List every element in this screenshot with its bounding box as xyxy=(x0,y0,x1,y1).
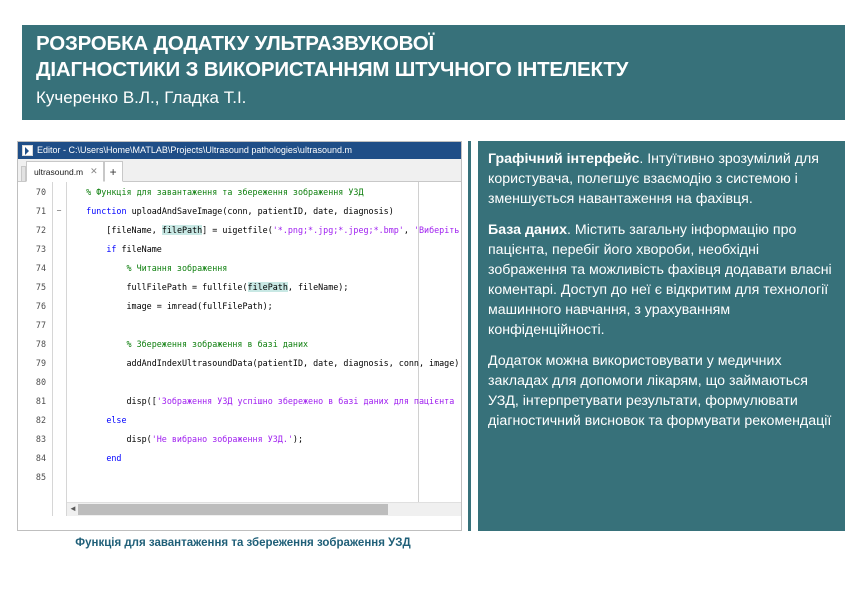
code-line-text: image = imread(fullFilePath); xyxy=(66,301,461,311)
line-number: 85 xyxy=(18,472,52,482)
code-line-text: fullFilePath = fullfile(filePath, fileNa… xyxy=(66,282,461,292)
code-line[interactable]: 79 addAndIndexUltrasoundData(patientID, … xyxy=(18,353,461,372)
line-number: 76 xyxy=(18,301,52,311)
matlab-editor-window: Editor - C:\Users\Home\MATLAB\Projects\U… xyxy=(17,141,462,531)
code-lines-container: 70 % Функція для завантаження та збереже… xyxy=(18,182,461,486)
code-line-text: [fileName, filePath] = uigetfile('*.png;… xyxy=(66,225,461,235)
new-tab-plus-icon[interactable]: + xyxy=(104,161,123,182)
code-line-text: else xyxy=(66,415,461,425)
code-line-text: % Читання зображення xyxy=(66,263,461,273)
code-line[interactable]: 83 disp('Не вибрано зображення УЗД.'); xyxy=(18,429,461,448)
line-number: 84 xyxy=(18,453,52,463)
line-number: 81 xyxy=(18,396,52,406)
editor-title-bar: Editor - C:\Users\Home\MATLAB\Projects\U… xyxy=(18,142,461,159)
code-line[interactable]: 71− function uploadAndSaveImage(conn, pa… xyxy=(18,201,461,220)
panel-divider xyxy=(468,141,471,531)
description-paragraph: Додаток можна використовувати у медичних… xyxy=(488,351,833,431)
description-paragraph: Графічний інтерфейс. Інтуїтивно зрозуміл… xyxy=(488,149,833,209)
code-line[interactable]: 75 fullFilePath = fullfile(filePath, fil… xyxy=(18,277,461,296)
code-line[interactable]: 73 if fileName xyxy=(18,239,461,258)
editor-title-text: Editor - C:\Users\Home\MATLAB\Projects\U… xyxy=(37,145,352,156)
code-line[interactable]: 77 xyxy=(18,315,461,334)
code-line-text: function uploadAndSaveImage(conn, patien… xyxy=(66,206,461,216)
editor-tab-bar: ultrasound.m ✕ + xyxy=(18,159,461,182)
paragraph-body: Додаток можна використовувати у медичних… xyxy=(488,353,831,429)
line-number: 71 xyxy=(18,206,52,216)
code-line[interactable]: 78 % Збереження зображення в базі даних xyxy=(18,334,461,353)
line-number: 82 xyxy=(18,415,52,425)
code-line[interactable]: 84 end xyxy=(18,448,461,467)
slide-header: РОЗРОБКА ДОДАТКУ УЛЬТРАЗВУКОВОЇ ДІАГНОСТ… xyxy=(22,25,845,120)
description-paragraph: База даних. Містить загальну інформацію … xyxy=(488,220,833,340)
line-number: 80 xyxy=(18,377,52,387)
header-title-line-1: РОЗРОБКА ДОДАТКУ УЛЬТРАЗВУКОВОЇ xyxy=(36,31,845,57)
code-line[interactable]: 82 else xyxy=(18,410,461,429)
paragraph-body: . Містить загальну інформацію про пацієн… xyxy=(488,222,832,338)
line-number: 78 xyxy=(18,339,52,349)
code-line-text: disp(['Зображення УЗД успішно збережено … xyxy=(66,396,461,406)
code-editor-area[interactable]: 70 % Функція для завантаження та збереже… xyxy=(18,182,461,516)
line-number: 74 xyxy=(18,263,52,273)
paragraph-lead: База даних xyxy=(488,222,567,238)
code-line-text: disp('Не вибрано зображення УЗД.'); xyxy=(66,434,461,444)
header-title-line-2: ДІАГНОСТИКИ З ВИКОРИСТАННЯМ ШТУЧНОГО ІНТ… xyxy=(36,57,845,83)
line-number: 79 xyxy=(18,358,52,368)
code-line[interactable]: 70 % Функція для завантаження та збереже… xyxy=(18,182,461,201)
tab-ultrasound-m[interactable]: ultrasound.m ✕ xyxy=(26,161,104,182)
line-number: 72 xyxy=(18,225,52,235)
code-fold-icon[interactable]: − xyxy=(52,206,66,215)
code-line[interactable]: 74 % Читання зображення xyxy=(18,258,461,277)
scroll-left-arrow-icon[interactable]: ◄ xyxy=(69,505,77,513)
figure-caption: Функція для завантаження та збереження з… xyxy=(17,536,469,551)
code-line[interactable]: 80 xyxy=(18,372,461,391)
code-line-text: % Функція для завантаження та збереження… xyxy=(66,187,461,197)
line-number: 83 xyxy=(18,434,52,444)
header-authors: Кучеренко В.Л., Гладка Т.І. xyxy=(36,86,845,110)
code-line[interactable]: 81 disp(['Зображення УЗД успішно збереже… xyxy=(18,391,461,410)
code-line-text: end xyxy=(66,453,461,463)
tab-label: ultrasound.m xyxy=(34,167,83,177)
code-line-text: % Збереження зображення в базі даних xyxy=(66,339,461,349)
code-line-text: if fileName xyxy=(66,244,461,254)
line-number: 73 xyxy=(18,244,52,254)
line-number: 77 xyxy=(18,320,52,330)
code-line[interactable]: 76 image = imread(fullFilePath); xyxy=(18,296,461,315)
code-line[interactable]: 85 xyxy=(18,467,461,486)
description-panel: Графічний інтерфейс. Інтуїтивно зрозуміл… xyxy=(478,141,845,531)
matlab-editor-icon xyxy=(22,145,33,156)
scrollbar-thumb[interactable] xyxy=(78,504,388,515)
code-line[interactable]: 72 [fileName, filePath] = uigetfile('*.p… xyxy=(18,220,461,239)
line-number: 70 xyxy=(18,187,52,197)
paragraph-lead: Графічний інтерфейс xyxy=(488,151,639,167)
horizontal-scrollbar[interactable]: ◄ xyxy=(67,502,461,516)
code-line-text: addAndIndexUltrasoundData(patientID, dat… xyxy=(66,358,461,368)
line-number: 75 xyxy=(18,282,52,292)
close-icon[interactable]: ✕ xyxy=(90,166,98,177)
